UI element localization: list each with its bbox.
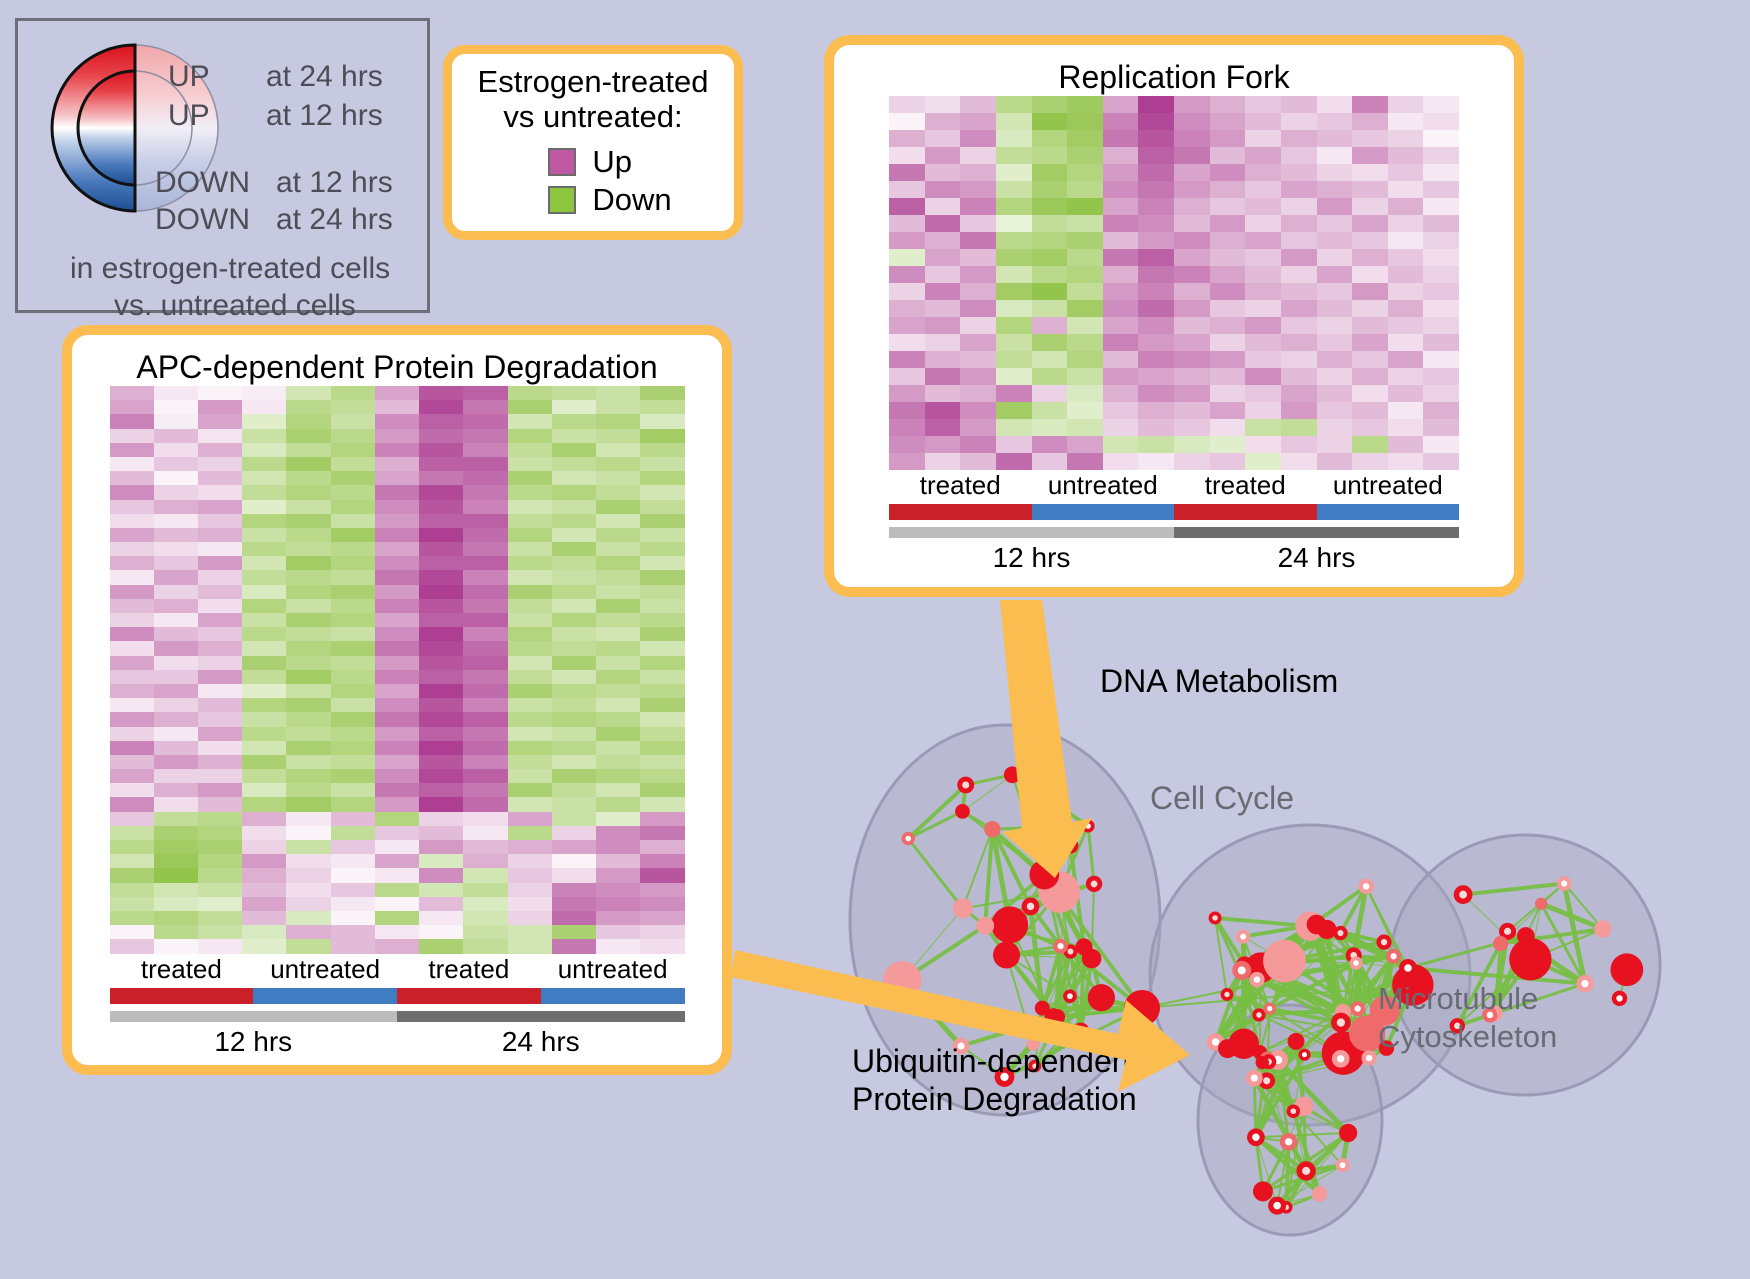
network-node bbox=[953, 898, 973, 918]
heatmap-cell bbox=[463, 684, 507, 698]
heatmap-cell bbox=[1388, 198, 1424, 215]
heatmap-cell bbox=[508, 698, 552, 712]
heatmap-cell bbox=[640, 656, 684, 670]
heatmap-cell bbox=[552, 783, 596, 797]
network-node-core bbox=[1302, 1167, 1310, 1175]
heatmap-cell bbox=[419, 542, 463, 556]
heatmap-cell bbox=[1210, 113, 1246, 130]
heatmap-cell bbox=[375, 457, 419, 471]
heatmap-cell bbox=[463, 698, 507, 712]
heatmap-cell bbox=[640, 883, 684, 897]
heatmap-cell bbox=[1388, 113, 1424, 130]
heatmap-cell bbox=[1423, 147, 1459, 164]
heatmap-cell bbox=[375, 656, 419, 670]
heatmap-cell bbox=[508, 769, 552, 783]
axis-time-color-bar bbox=[397, 1011, 685, 1022]
heatmap-cell bbox=[419, 812, 463, 826]
heatmap-cell bbox=[640, 457, 684, 471]
panel-apc-degradation: APC-dependent Protein Degradation treate… bbox=[62, 325, 732, 1075]
heatmap-cell bbox=[552, 627, 596, 641]
panel-title-replication-fork: Replication Fork bbox=[834, 59, 1514, 96]
heatmap-cell bbox=[286, 585, 330, 599]
heatmap-cell bbox=[1210, 130, 1246, 147]
heatmap-cell bbox=[1138, 283, 1174, 300]
heatmap-cell bbox=[1423, 453, 1459, 470]
heatmap-cell bbox=[1317, 334, 1353, 351]
heatmap-cell bbox=[889, 130, 925, 147]
heatmap-cell bbox=[996, 334, 1032, 351]
axis-group-labels: treateduntreatedtreateduntreated bbox=[110, 954, 685, 985]
heatmap-cell bbox=[154, 471, 198, 485]
heatmap-cell bbox=[925, 402, 961, 419]
heatmap-cell bbox=[198, 585, 242, 599]
heatmap-cell bbox=[1388, 232, 1424, 249]
heatmap-cell bbox=[996, 402, 1032, 419]
heatmap-cell bbox=[1281, 181, 1317, 198]
heatmap-cell bbox=[242, 826, 286, 840]
axis-time-color-bar bbox=[889, 527, 1174, 538]
axis-group-label: untreated bbox=[1317, 470, 1460, 501]
heatmap-cell bbox=[198, 656, 242, 670]
heatmap-cell bbox=[552, 769, 596, 783]
heatmap-cell bbox=[286, 528, 330, 542]
heatmap-cell bbox=[1103, 436, 1139, 453]
heatmap-cell bbox=[1245, 164, 1281, 181]
heatmap-cell bbox=[375, 485, 419, 499]
heatmap-cell bbox=[1352, 351, 1388, 368]
axis-group-label: treated bbox=[110, 954, 254, 985]
heatmap-cell bbox=[419, 514, 463, 528]
heatmap-cell bbox=[960, 215, 996, 232]
heatmap-cell bbox=[640, 556, 684, 570]
heatmap-cell bbox=[1174, 436, 1210, 453]
heatmap-cell bbox=[1174, 419, 1210, 436]
heatmap-cell bbox=[419, 641, 463, 655]
heatmap-cell bbox=[110, 429, 154, 443]
heatmap-cell bbox=[1317, 147, 1353, 164]
figure-root: UP at 24 hrs UP at 12 hrs DOWN at 12 hrs… bbox=[0, 0, 1750, 1279]
heatmap-cell bbox=[1388, 96, 1424, 113]
heatmap-cell bbox=[110, 641, 154, 655]
heatmap-cell bbox=[154, 627, 198, 641]
heatmap-cell bbox=[1067, 453, 1103, 470]
network-node-core bbox=[1057, 943, 1063, 949]
axis-group-label: treated bbox=[1174, 470, 1317, 501]
heatmap-cell bbox=[331, 585, 375, 599]
heatmap-cell bbox=[154, 585, 198, 599]
network-node bbox=[1075, 938, 1092, 955]
heatmap-cell bbox=[1352, 147, 1388, 164]
network-node-core bbox=[1067, 993, 1073, 999]
heatmap-cell bbox=[110, 783, 154, 797]
heatmap-cell bbox=[1352, 232, 1388, 249]
heatmap-cell bbox=[1210, 334, 1246, 351]
heatmap-cell bbox=[889, 147, 925, 164]
legend-label-down: Down bbox=[592, 182, 671, 218]
heatmap-cell bbox=[596, 443, 640, 457]
heatmap-cell bbox=[463, 712, 507, 726]
heatmap-cell bbox=[110, 443, 154, 457]
heatmap-cell bbox=[640, 755, 684, 769]
network-node bbox=[1594, 920, 1611, 937]
heatmap-cell bbox=[508, 429, 552, 443]
heatmap-cell bbox=[1352, 385, 1388, 402]
heatmap-cell bbox=[1317, 317, 1353, 334]
heatmap-cell bbox=[331, 514, 375, 528]
heatmap-cell bbox=[198, 627, 242, 641]
heatmap-cell bbox=[286, 840, 330, 854]
heatmap-cell bbox=[242, 613, 286, 627]
heatmap-cell bbox=[1032, 130, 1068, 147]
heatmap-cell bbox=[375, 443, 419, 457]
heatmap-cell bbox=[1423, 164, 1459, 181]
heatmap-cell bbox=[463, 911, 507, 925]
heatmap-cell bbox=[286, 457, 330, 471]
heatmap-cell bbox=[1423, 130, 1459, 147]
axis-group-label: treated bbox=[397, 954, 541, 985]
heatmap-cell bbox=[1317, 164, 1353, 181]
heatmap-cell bbox=[508, 570, 552, 584]
heatmap-cell bbox=[1103, 198, 1139, 215]
heatmap-cell bbox=[552, 400, 596, 414]
heatmap-cell bbox=[286, 514, 330, 528]
heatmap-cell bbox=[154, 883, 198, 897]
heatmap-cell bbox=[1138, 453, 1174, 470]
heatmap-cell bbox=[198, 386, 242, 400]
heatmap-cell bbox=[552, 797, 596, 811]
heatmap-cell bbox=[419, 769, 463, 783]
heatmap-cell bbox=[375, 542, 419, 556]
heatmap-cell bbox=[110, 670, 154, 684]
heatmap-cell bbox=[242, 542, 286, 556]
heatmap-cell bbox=[198, 783, 242, 797]
axis-time-bar bbox=[110, 1011, 685, 1022]
heatmap-cell bbox=[198, 429, 242, 443]
heatmap-cell bbox=[889, 164, 925, 181]
heatmap-cell bbox=[375, 429, 419, 443]
heatmap-cell bbox=[1245, 130, 1281, 147]
heatmap-cell bbox=[1245, 368, 1281, 385]
heatmap-cell bbox=[996, 453, 1032, 470]
network-node bbox=[1218, 1039, 1237, 1058]
heatmap-cell bbox=[242, 897, 286, 911]
heatmap-cell bbox=[419, 585, 463, 599]
heatmap-cell bbox=[552, 670, 596, 684]
heatmap-cell bbox=[110, 684, 154, 698]
heatmap-cell bbox=[596, 670, 640, 684]
heatmap-cell bbox=[1281, 147, 1317, 164]
heatmap-cell bbox=[996, 368, 1032, 385]
heatmap-cell bbox=[925, 113, 961, 130]
heatmap-cell bbox=[463, 443, 507, 457]
network-node bbox=[1124, 990, 1160, 1026]
heatmap-cell bbox=[1423, 351, 1459, 368]
heatmap-cell bbox=[242, 840, 286, 854]
heatmap-cell bbox=[996, 351, 1032, 368]
heatmap-cell bbox=[154, 897, 198, 911]
heatmap-cell bbox=[1352, 249, 1388, 266]
cluster-label-microtubule: Microtubule Cytoskeleton bbox=[1378, 980, 1557, 1056]
heatmap-cell bbox=[154, 755, 198, 769]
heatmap-cell bbox=[596, 712, 640, 726]
heatmap-cell bbox=[1245, 334, 1281, 351]
heatmap-cell bbox=[154, 911, 198, 925]
heatmap-cell bbox=[1317, 215, 1353, 232]
legend-heading: Estrogen-treated vs untreated: bbox=[478, 65, 709, 134]
heatmap-cell bbox=[640, 500, 684, 514]
heatmap-cell bbox=[242, 457, 286, 471]
heatmap-cell bbox=[463, 939, 507, 953]
heatmap-cell bbox=[198, 741, 242, 755]
axis-group-color-bar bbox=[889, 504, 1032, 520]
heatmap-cell bbox=[1317, 351, 1353, 368]
key-time-down-12: at 12 hrs bbox=[276, 166, 393, 200]
heatmap-cell bbox=[640, 400, 684, 414]
heatmap-cell bbox=[1281, 232, 1317, 249]
heatmap-cell bbox=[110, 485, 154, 499]
heatmap-cell bbox=[242, 755, 286, 769]
heatmap-cell bbox=[375, 698, 419, 712]
heatmap-cell bbox=[1174, 317, 1210, 334]
heatmap-cell bbox=[508, 925, 552, 939]
heatmap-cell bbox=[1245, 351, 1281, 368]
heatmap-cell bbox=[508, 840, 552, 854]
heatmap-cell bbox=[1423, 113, 1459, 130]
heatmap-cell bbox=[1388, 147, 1424, 164]
heatmap-cell bbox=[960, 453, 996, 470]
heatmap-cell bbox=[1210, 96, 1246, 113]
heatmap-cell bbox=[1138, 419, 1174, 436]
heatmap-cell bbox=[154, 684, 198, 698]
heatmap-cell bbox=[331, 939, 375, 953]
heatmap-cell bbox=[1174, 113, 1210, 130]
heatmap-cell bbox=[154, 613, 198, 627]
heatmap-cell bbox=[419, 443, 463, 457]
heatmap-cell bbox=[552, 911, 596, 925]
heatmap-cell bbox=[1138, 266, 1174, 283]
heatmap-cell bbox=[375, 570, 419, 584]
heatmap-cell bbox=[889, 215, 925, 232]
heatmap-cell bbox=[1352, 164, 1388, 181]
heatmap-cell bbox=[242, 883, 286, 897]
heatmap-cell bbox=[960, 300, 996, 317]
heatmap-cell bbox=[463, 542, 507, 556]
heatmap-cell bbox=[596, 570, 640, 584]
heatmap-cell bbox=[286, 414, 330, 428]
heatmap-cell bbox=[925, 130, 961, 147]
heatmap-cell bbox=[419, 528, 463, 542]
heatmap-cell bbox=[596, 868, 640, 882]
heatmap-cell bbox=[889, 113, 925, 130]
heatmap-cell bbox=[286, 670, 330, 684]
network-node bbox=[1493, 936, 1508, 951]
heatmap-cell bbox=[1032, 181, 1068, 198]
heatmap-cell bbox=[960, 283, 996, 300]
heatmap-cell bbox=[463, 500, 507, 514]
heatmap-cell bbox=[1103, 402, 1139, 419]
heatmap-cell bbox=[1245, 232, 1281, 249]
heatmap-cell bbox=[154, 528, 198, 542]
heatmap-cell bbox=[110, 514, 154, 528]
heatmap-cell bbox=[198, 599, 242, 613]
heatmap-cell bbox=[242, 514, 286, 528]
heatmap-cell bbox=[110, 854, 154, 868]
heatmap-cell bbox=[1352, 96, 1388, 113]
heatmap-cell bbox=[1352, 283, 1388, 300]
heatmap-cell bbox=[375, 599, 419, 613]
heatmap-cell bbox=[1281, 300, 1317, 317]
heatmap-cell bbox=[925, 385, 961, 402]
heatmap-cell bbox=[596, 741, 640, 755]
heatmap-cell bbox=[1245, 113, 1281, 130]
heatmap-cell bbox=[508, 911, 552, 925]
up-down-legend-card: Estrogen-treated vs untreated: Up Down bbox=[443, 45, 743, 240]
heatmap-cell bbox=[286, 797, 330, 811]
heatmap-cell bbox=[286, 627, 330, 641]
heatmap-cell bbox=[925, 198, 961, 215]
heatmap-cell bbox=[640, 443, 684, 457]
heatmap-cell bbox=[286, 897, 330, 911]
heatmap-cell bbox=[889, 232, 925, 249]
heatmap-cell bbox=[1317, 249, 1353, 266]
heatmap-cell bbox=[1138, 181, 1174, 198]
heatmap-cell bbox=[463, 883, 507, 897]
heatmap-cell bbox=[552, 542, 596, 556]
heatmap-cell bbox=[1032, 419, 1068, 436]
axis-time-label: 12 hrs bbox=[889, 542, 1174, 574]
heatmap-cell bbox=[375, 414, 419, 428]
heatmap-cell bbox=[1067, 300, 1103, 317]
heatmap-cell bbox=[960, 181, 996, 198]
heatmap-cell bbox=[596, 414, 640, 428]
heatmap-cell bbox=[640, 613, 684, 627]
heatmap-cell bbox=[375, 556, 419, 570]
heatmap-cell bbox=[1352, 215, 1388, 232]
heatmap-cell bbox=[1174, 198, 1210, 215]
heatmap-cell bbox=[960, 113, 996, 130]
heatmap-cell bbox=[1174, 402, 1210, 419]
heatmap-cell bbox=[996, 436, 1032, 453]
network-node bbox=[991, 906, 1028, 943]
heatmap-cell bbox=[640, 897, 684, 911]
heatmap-cell bbox=[552, 570, 596, 584]
heatmap-cell bbox=[1103, 334, 1139, 351]
heatmap-cell bbox=[960, 317, 996, 334]
heatmap-cell bbox=[640, 939, 684, 953]
heatmap-cell bbox=[996, 300, 1032, 317]
heatmap-cell bbox=[286, 769, 330, 783]
heatmap-cell bbox=[1423, 96, 1459, 113]
heatmap-cell bbox=[463, 599, 507, 613]
heatmap-cell bbox=[1281, 453, 1317, 470]
heatmap-cell bbox=[375, 613, 419, 627]
heatmap-cell bbox=[286, 812, 330, 826]
heatmap-cell bbox=[552, 684, 596, 698]
heatmap-cell bbox=[242, 641, 286, 655]
heatmap-cell bbox=[1138, 249, 1174, 266]
network-node bbox=[883, 961, 921, 999]
heatmap-cell bbox=[1138, 147, 1174, 164]
heatmap-cell bbox=[640, 670, 684, 684]
heatmap-cell bbox=[1317, 300, 1353, 317]
network-node bbox=[1035, 1001, 1050, 1016]
heatmap-cell bbox=[198, 400, 242, 414]
heatmap-cell bbox=[552, 883, 596, 897]
heatmap-cell bbox=[154, 797, 198, 811]
heatmap-cell bbox=[242, 570, 286, 584]
heatmap-cell bbox=[1281, 317, 1317, 334]
heatmap-cell bbox=[463, 641, 507, 655]
heatmap-cell bbox=[1352, 419, 1388, 436]
heatmap-cell bbox=[552, 556, 596, 570]
heatmap-cell bbox=[198, 443, 242, 457]
heatmap-cell bbox=[640, 783, 684, 797]
network-node bbox=[1029, 860, 1059, 890]
heatmap-cell bbox=[1388, 215, 1424, 232]
heatmap-cell bbox=[1281, 436, 1317, 453]
axis-time-color-bar bbox=[110, 1011, 398, 1022]
heatmap-cell bbox=[1103, 453, 1139, 470]
heatmap-cell bbox=[419, 684, 463, 698]
heatmap-cell bbox=[286, 570, 330, 584]
heatmap-cell bbox=[1388, 351, 1424, 368]
heatmap-cell bbox=[242, 812, 286, 826]
heatmap-cell bbox=[1388, 368, 1424, 385]
network-node bbox=[1535, 898, 1547, 910]
network-node-core bbox=[1263, 1077, 1270, 1084]
heatmap-cell bbox=[375, 826, 419, 840]
heatmap-cell bbox=[198, 684, 242, 698]
heatmap-cell bbox=[889, 266, 925, 283]
heatmap-cell bbox=[331, 627, 375, 641]
heatmap-cell bbox=[1174, 300, 1210, 317]
heatmap-cell bbox=[198, 528, 242, 542]
heatmap-cell bbox=[1210, 419, 1246, 436]
heatmap-cell bbox=[925, 283, 961, 300]
heatmap-cell bbox=[552, 429, 596, 443]
heatmap-cell bbox=[1174, 334, 1210, 351]
heatmap-cell bbox=[1281, 266, 1317, 283]
axis-group-color-bar bbox=[110, 988, 254, 1004]
heatmap-cell bbox=[1067, 232, 1103, 249]
heatmap-cell bbox=[154, 386, 198, 400]
key-time-up-24: at 24 hrs bbox=[266, 60, 383, 94]
heatmap-cell bbox=[960, 368, 996, 385]
heatmap-cell bbox=[154, 570, 198, 584]
heatmap-cell bbox=[375, 840, 419, 854]
heatmap-cell bbox=[1423, 402, 1459, 419]
heatmap-cell bbox=[925, 96, 961, 113]
heatmap-cell bbox=[154, 868, 198, 882]
heatmap-cell bbox=[1210, 402, 1246, 419]
heatmap-cell bbox=[925, 351, 961, 368]
heatmap-cell bbox=[1032, 402, 1068, 419]
heatmap-cell bbox=[596, 797, 640, 811]
heatmap-cell bbox=[1174, 266, 1210, 283]
heatmap-cell bbox=[331, 641, 375, 655]
heatmap-cell bbox=[242, 656, 286, 670]
heatmap-cell bbox=[1388, 385, 1424, 402]
heatmap-cell bbox=[1032, 385, 1068, 402]
heatmap-cell bbox=[331, 500, 375, 514]
heatmap-cell bbox=[110, 897, 154, 911]
heatmap-cell bbox=[154, 840, 198, 854]
heatmap-cell bbox=[960, 266, 996, 283]
heatmap-cell bbox=[1388, 130, 1424, 147]
heatmap-cell bbox=[508, 670, 552, 684]
heatmap-cell bbox=[242, 939, 286, 953]
heatmap-cell bbox=[1423, 419, 1459, 436]
